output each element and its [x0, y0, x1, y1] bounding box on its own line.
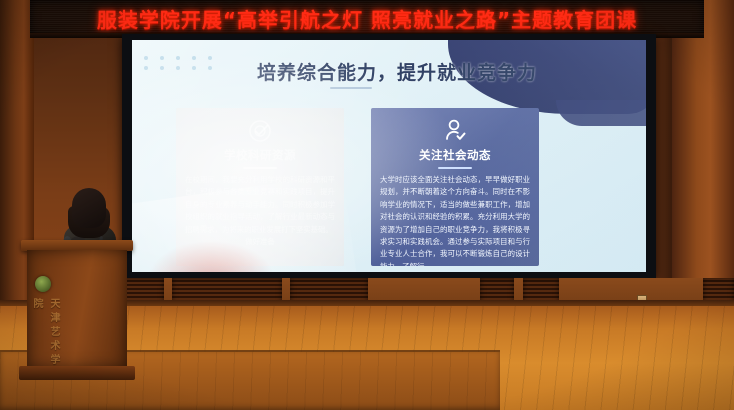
slide-navy-accent	[556, 100, 646, 126]
podium-institution-name: 天津艺术学院	[36, 298, 62, 368]
person-check-icon	[380, 116, 530, 146]
auditorium-photo: 服装学院开展“高举引航之灯 照亮就业之路”主题教育团课 培养综合能力，提升就业竞…	[0, 0, 734, 410]
slide-card-right-heading: 关注社会动态	[380, 147, 530, 163]
podium: 天津艺术学院	[25, 240, 129, 380]
slide-card-left-body-text: 在校期间，我要充分利用学校的科研资源和平台，积极参与各类专业竞赛和实践项目，提升…	[185, 175, 335, 234]
projection-screen: 培养综合能力，提升就业竞争力 学校科研资源 在校期间，我要充分利用学校的科研资源…	[132, 40, 646, 272]
slide-card-left-body: 在校期间，我要充分利用学校的科研资源和平台，积极参与各类专业竞赛和实践项目，提升…	[185, 174, 335, 248]
slide-card-left: 学校科研资源 在校期间，我要充分利用学校的科研资源和平台，积极参与各类专业竞赛和…	[176, 108, 344, 266]
slide-title-underline	[330, 87, 372, 89]
slide-card-right-body: 大学时应该全面关注社会动态，早早做好职业规划，并不断朝着这个方向奋斗。同时在不影…	[380, 174, 530, 266]
target-check-icon	[185, 116, 335, 146]
presenter-hair	[72, 188, 106, 228]
slide-card-left-divider	[243, 167, 277, 169]
slide-title: 培养综合能力，提升就业竞争力	[202, 58, 592, 85]
led-banner-text: 服装学院开展“高举引航之灯 照亮就业之路”主题教育团课	[30, 0, 704, 36]
slide-card-left-heading: 学校科研资源	[185, 147, 335, 163]
slide-card-left-body-last: 做好准备	[185, 236, 335, 248]
presentation-slide: 培养综合能力，提升就业竞争力 学校科研资源 在校期间，我要充分利用学校的科研资源…	[132, 40, 646, 272]
slide-card-right-body-text: 大学时应该全面关注社会动态，早早做好职业规划，并不断朝着这个方向奋斗。同时在不影…	[380, 175, 530, 266]
wall-pillar-right	[672, 0, 734, 300]
podium-front-panel: 天津艺术学院	[27, 250, 127, 368]
slide-card-right: 关注社会动态 大学时应该全面关注社会动态，早早做好职业规划，并不断朝着这个方向奋…	[371, 108, 539, 266]
podium-base	[19, 366, 135, 380]
school-crest-icon	[35, 276, 51, 292]
slide-card-right-divider	[438, 167, 472, 169]
